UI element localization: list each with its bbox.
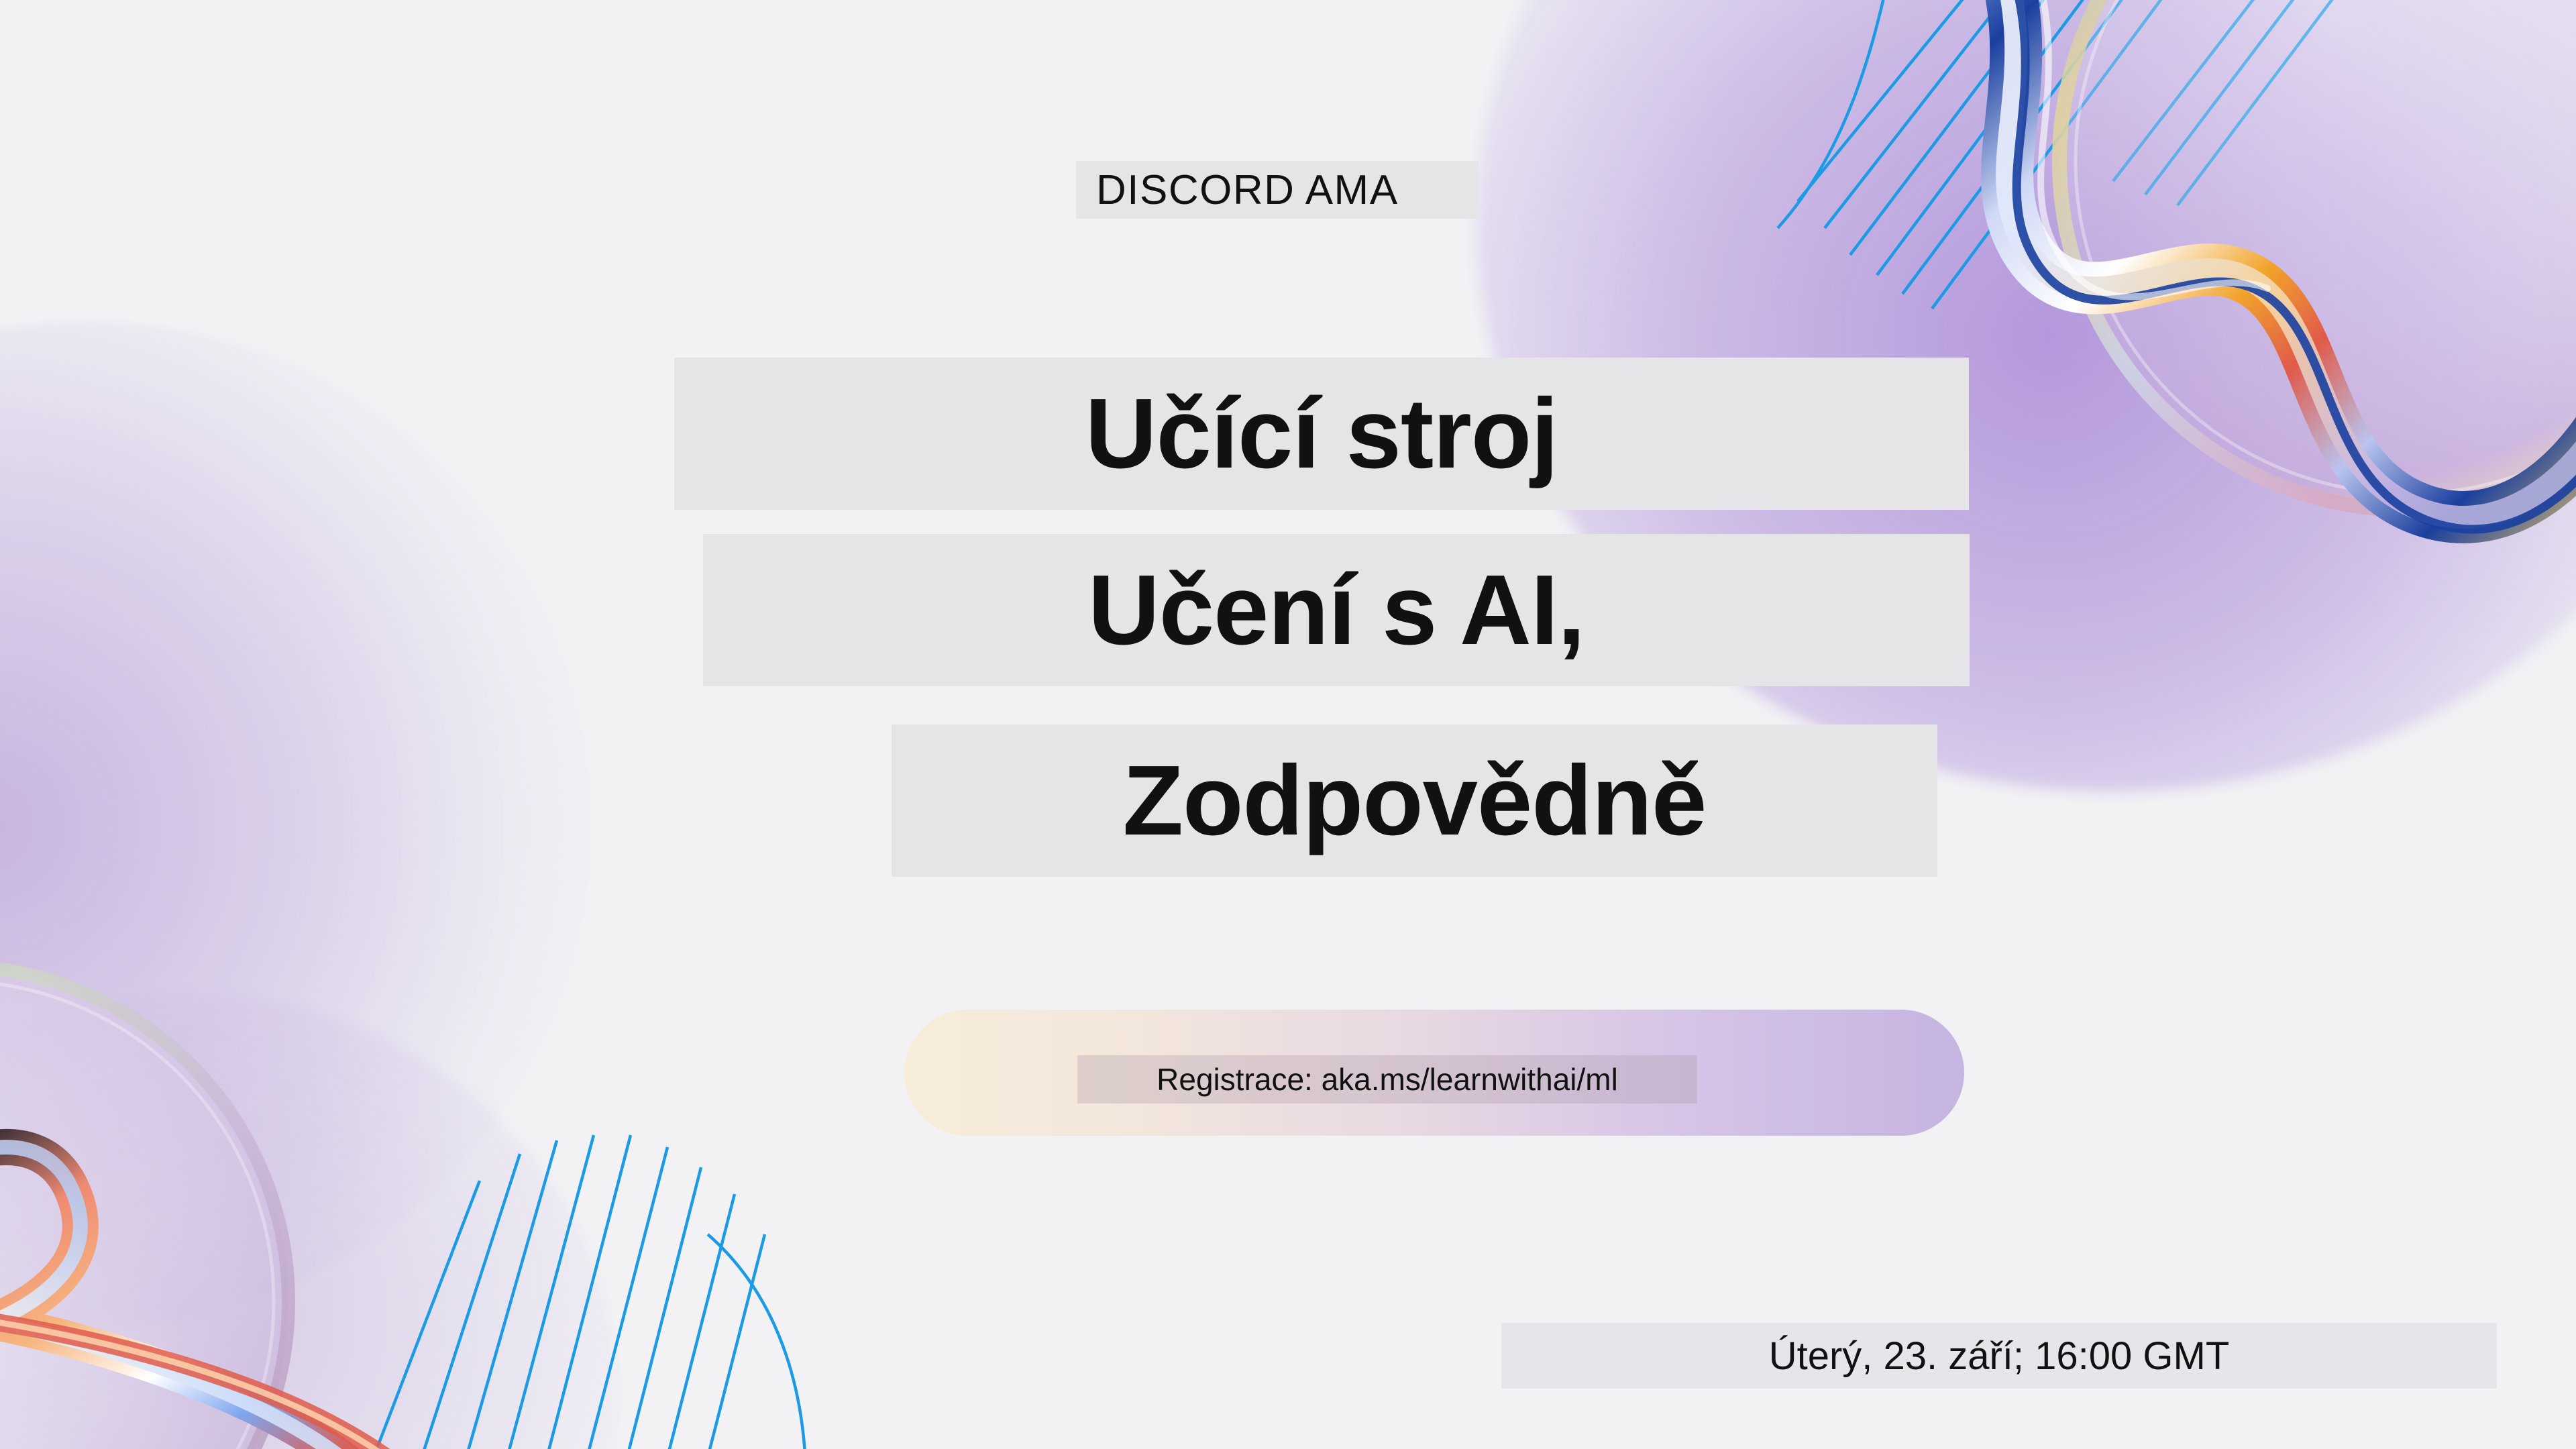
purple-glow-bottom-left (0, 993, 617, 1449)
glass-bubble-bottom-left (0, 966, 288, 1449)
hatch-lines-bottom-left (369, 1135, 806, 1449)
event-date-time: Úterý, 23. září; 16:00 GMT (1501, 1323, 2497, 1389)
glass-ribbon-top-right (1982, 0, 2576, 529)
title-line-3-text: Zodpovědně (1123, 744, 1707, 858)
purple-glow-left (0, 322, 590, 1328)
glass-ribbon-bottom-left (0, 1147, 480, 1449)
eyebrow-label: DISCORD AMA (1076, 161, 1479, 219)
title-line-2: Učení s AI, (703, 534, 1970, 686)
title-line-3: Zodpovědně (892, 724, 1937, 877)
registration-cta-label[interactable]: Registrace: aka.ms/learnwithai/ml (1077, 1055, 1697, 1104)
title-line-2-text: Učení s AI, (1088, 553, 1585, 667)
title-line-1-text: Učící stroj (1085, 377, 1558, 491)
title-line-1: Učící stroj (674, 358, 1969, 510)
glass-bubble-top-right (2059, 0, 2576, 510)
bottom-left-decoration (0, 792, 825, 1449)
event-promo-slide: DISCORD AMA Učící stroj Učení s AI, Zodp… (0, 0, 2576, 1449)
hatch-lines-top-right (1778, 0, 2372, 309)
